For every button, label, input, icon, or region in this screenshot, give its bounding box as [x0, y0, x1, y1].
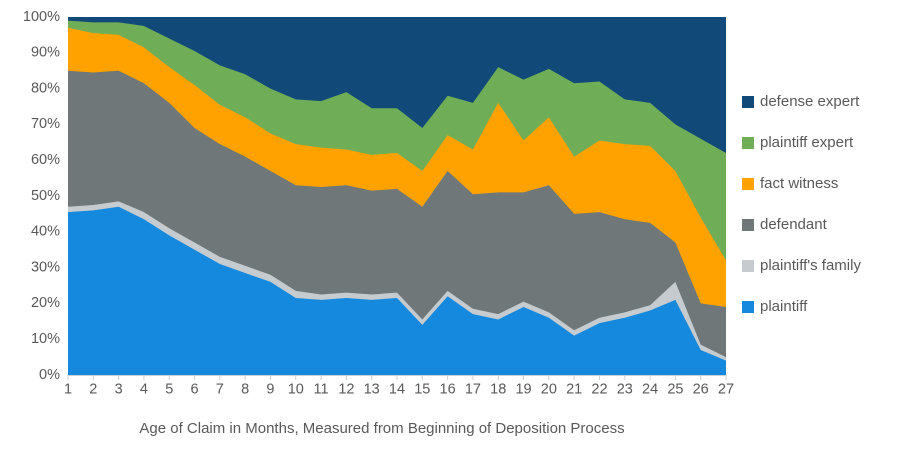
x-axis-tick-label: 14 [389, 382, 405, 398]
legend-label[interactable]: plaintiff [760, 298, 808, 315]
x-axis-tick-label: 23 [617, 382, 633, 398]
x-axis-line [68, 375, 726, 380]
legend-label[interactable]: fact witness [760, 175, 838, 192]
plot-area-bands [68, 17, 726, 375]
x-axis-tick-label: 7 [216, 382, 224, 398]
x-axis-tick-label: 10 [288, 382, 304, 398]
x-axis-tick-label: 21 [566, 382, 582, 398]
x-axis-tick-label: 15 [414, 382, 430, 398]
x-axis-tick-labels: 1234567891011121314151617181920212223242… [64, 382, 734, 398]
x-axis-tick-label: 9 [266, 382, 274, 398]
x-axis-tick-label: 11 [314, 382, 329, 398]
y-axis-tick-label: 50% [31, 188, 60, 204]
chart-canvas: 0%10%20%30%40%50%60%70%80%90%100% 123456… [0, 0, 914, 454]
x-axis-tick-label: 17 [465, 382, 481, 398]
y-axis-tick-label: 30% [31, 259, 60, 275]
x-axis-tick-label: 22 [591, 382, 607, 398]
stacked-area-chart: 0%10%20%30%40%50%60%70%80%90%100% 123456… [0, 0, 914, 454]
x-axis-tick-label: 16 [440, 382, 456, 398]
x-axis-tick-label: 25 [667, 382, 683, 398]
x-axis-tick-label: 26 [693, 382, 709, 398]
y-axis-tick-label: 80% [31, 80, 60, 96]
legend-swatch[interactable] [742, 178, 754, 190]
y-axis-tick-label: 60% [31, 152, 60, 168]
x-axis-tick-label: 2 [89, 382, 97, 398]
y-axis-tick-label: 10% [31, 331, 60, 347]
legend-label[interactable]: defendant [760, 216, 828, 233]
x-axis-tick-label: 18 [490, 382, 506, 398]
y-axis-tick-label: 100% [23, 9, 60, 25]
x-axis-tick-label: 5 [165, 382, 173, 398]
x-axis-tick-label: 8 [241, 382, 249, 398]
legend-label[interactable]: plaintiff's family [760, 257, 861, 274]
legend-swatch[interactable] [742, 219, 754, 231]
legend-label[interactable]: defense expert [760, 93, 860, 110]
x-axis-tick-label: 13 [364, 382, 380, 398]
y-axis-tick-label: 90% [31, 45, 60, 61]
x-axis-tick-label: 12 [338, 382, 354, 398]
legend-swatch[interactable] [742, 96, 754, 108]
y-axis-tick-labels: 0%10%20%30%40%50%60%70%80%90%100% [23, 9, 60, 383]
x-axis-tick-label: 4 [140, 382, 148, 398]
chart-legend: defense expertplaintiff expertfact witne… [742, 93, 861, 315]
y-axis-tick-label: 20% [31, 295, 60, 311]
y-axis-tick-label: 70% [31, 116, 60, 132]
legend-label[interactable]: plaintiff expert [760, 134, 854, 151]
x-axis-tick-label: 27 [718, 382, 734, 398]
y-axis-tick-label: 40% [31, 224, 60, 240]
legend-swatch[interactable] [742, 260, 754, 272]
legend-swatch[interactable] [742, 137, 754, 149]
x-axis-tick-label: 6 [190, 382, 198, 398]
x-axis-tick-label: 3 [115, 382, 123, 398]
legend-swatch[interactable] [742, 301, 754, 313]
y-axis-tick-label: 0% [39, 367, 60, 383]
x-axis-title: Age of Claim in Months, Measured from Be… [139, 420, 624, 437]
x-axis-tick-label: 24 [642, 382, 658, 398]
x-axis-tick-label: 20 [541, 382, 557, 398]
x-axis-tick-label: 19 [515, 382, 531, 398]
x-axis-tick-label: 1 [64, 382, 72, 398]
